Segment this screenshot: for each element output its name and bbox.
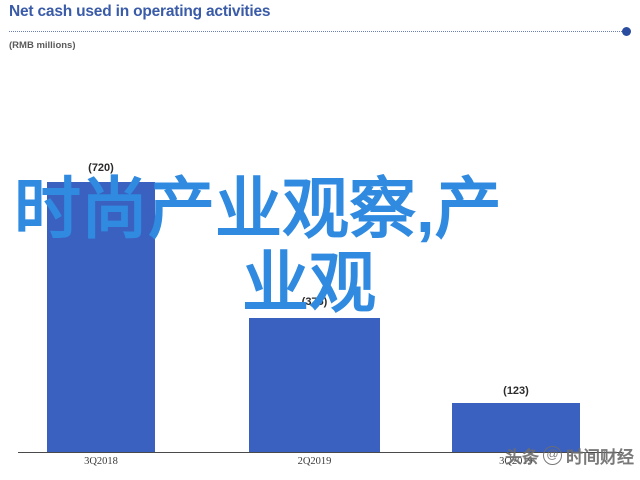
bar-value-label-2: (123) xyxy=(452,385,580,397)
chart-page: Net cash used in operating activities (R… xyxy=(0,0,640,480)
overlay-headline-line-2: 业观 xyxy=(242,250,376,317)
x-tick-label-1: 2Q2019 xyxy=(249,456,380,467)
at-symbol-icon: @ xyxy=(543,446,562,465)
source-watermark: 头条 @ 时间财经 xyxy=(505,443,634,468)
overlay-headline-line-1: 时尚产业观察,产 xyxy=(14,176,502,243)
x-tick-label-0: 3Q2018 xyxy=(47,456,155,467)
watermark-account-name: 时间财经 xyxy=(566,443,634,468)
bar-2q2019[interactable] xyxy=(249,318,380,452)
toutiao-logo-icon: 头条 xyxy=(505,443,539,468)
